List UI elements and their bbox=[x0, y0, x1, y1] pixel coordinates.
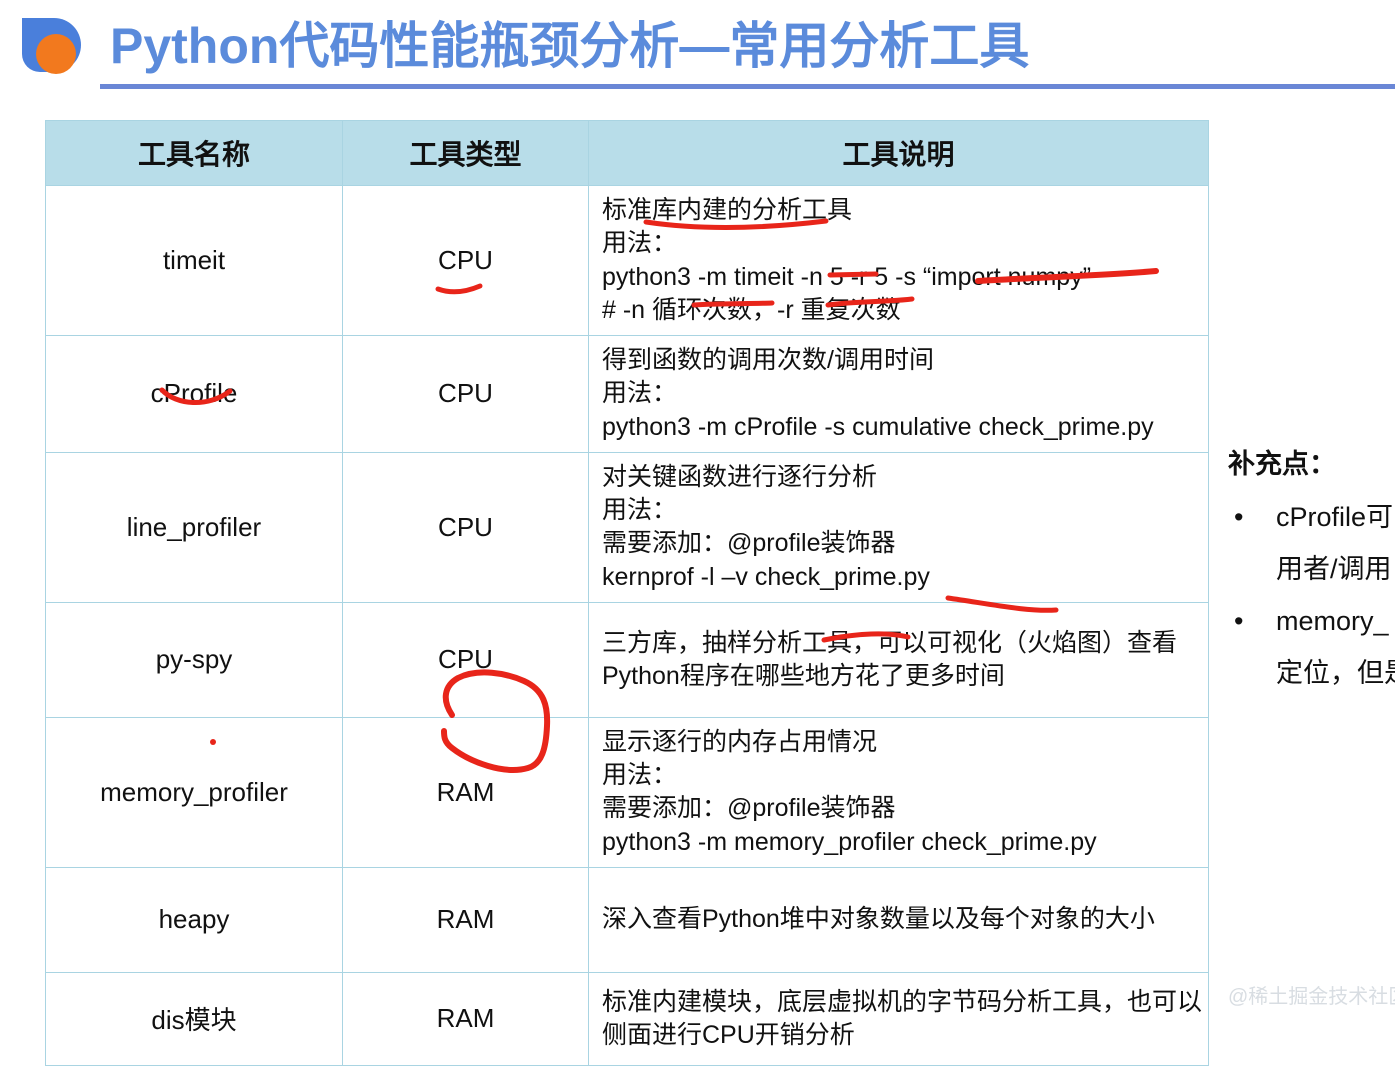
watermark: @稀土掘金技术社区 bbox=[1228, 980, 1395, 1009]
cell-tool-name: cProfile bbox=[46, 336, 343, 453]
page-title: Python代码性能瓶颈分析—常用分析工具 bbox=[110, 6, 1029, 78]
cell-tool-name: timeit bbox=[46, 186, 343, 336]
blue-orange-droplet-logo bbox=[18, 14, 84, 80]
tools-table: 工具名称 工具类型 工具说明 timeit CPU 标准库内建的分析工具 用法：… bbox=[45, 120, 1209, 1066]
supplementary-notes-title: 补充点： bbox=[1228, 442, 1395, 481]
note-line-1: cProfile可 bbox=[1276, 502, 1393, 532]
table-row: dis模块 RAM 标准内建模块，底层虚拟机的字节码分析工具，也可以 侧面进行C… bbox=[46, 972, 1209, 1065]
cell-tool-type: CPU bbox=[343, 336, 589, 453]
cell-tool-type: CPU bbox=[343, 602, 589, 717]
bullet-icon: • bbox=[1234, 599, 1243, 645]
table-row: line_profiler CPU 对关键函数进行逐行分析 用法： 需要添加：@… bbox=[46, 452, 1209, 602]
column-header-tool-desc: 工具说明 bbox=[589, 121, 1209, 186]
cell-tool-type: RAM bbox=[343, 867, 589, 972]
column-header-tool-name: 工具名称 bbox=[46, 121, 343, 186]
list-item: • cProfile可 bbox=[1228, 495, 1395, 541]
table-row: cProfile CPU 得到函数的调用次数/调用时间 用法： python3 … bbox=[46, 336, 1209, 453]
note-line-2: 定位，但是 bbox=[1276, 658, 1395, 688]
cell-tool-type: CPU bbox=[343, 452, 589, 602]
cell-tool-desc: 标准内建模块，底层虚拟机的字节码分析工具，也可以 侧面进行CPU开销分析 bbox=[589, 972, 1209, 1065]
cell-tool-type: RAM bbox=[343, 717, 589, 867]
title-underline-rule bbox=[100, 84, 1395, 89]
cell-tool-desc: 对关键函数进行逐行分析 用法： 需要添加：@profile装饰器 kernpro… bbox=[589, 452, 1209, 602]
cell-tool-name: dis模块 bbox=[46, 972, 343, 1065]
bullet-icon: • bbox=[1234, 495, 1243, 541]
cell-tool-desc: 深入查看Python堆中对象数量以及每个对象的大小 bbox=[589, 867, 1209, 972]
cell-tool-name: memory_profiler bbox=[46, 717, 343, 867]
cell-tool-desc: 得到函数的调用次数/调用时间 用法： python3 -m cProfile -… bbox=[589, 336, 1209, 453]
table-row: py-spy CPU 三方库，抽样分析工具，可以可视化（火焰图）查看 Pytho… bbox=[46, 602, 1209, 717]
list-item-continuation: 用者/调用 bbox=[1228, 547, 1395, 593]
table-row: timeit CPU 标准库内建的分析工具 用法： python3 -m tim… bbox=[46, 186, 1209, 336]
supplementary-notes-panel: 补充点： • cProfile可 用者/调用 • memory_ 定位，但是 bbox=[1228, 442, 1395, 703]
list-item: • memory_ bbox=[1228, 599, 1395, 645]
table-row: memory_profiler RAM 显示逐行的内存占用情况 用法： 需要添加… bbox=[46, 717, 1209, 867]
cell-tool-name: line_profiler bbox=[46, 452, 343, 602]
list-item-continuation: 定位，但是 bbox=[1228, 651, 1395, 697]
slide-header: Python代码性能瓶颈分析—常用分析工具 bbox=[0, 0, 1395, 100]
cell-tool-name: heapy bbox=[46, 867, 343, 972]
cell-tool-type: RAM bbox=[343, 972, 589, 1065]
cell-tool-desc: 三方库，抽样分析工具，可以可视化（火焰图）查看 Python程序在哪些地方花了更… bbox=[589, 602, 1209, 717]
cell-tool-name: py-spy bbox=[46, 602, 343, 717]
note-line-1: memory_ bbox=[1276, 606, 1389, 636]
table-row: heapy RAM 深入查看Python堆中对象数量以及每个对象的大小 bbox=[46, 867, 1209, 972]
note-line-2: 用者/调用 bbox=[1276, 554, 1392, 584]
table-header-row: 工具名称 工具类型 工具说明 bbox=[46, 121, 1209, 186]
column-header-tool-type: 工具类型 bbox=[343, 121, 589, 186]
cell-tool-desc: 显示逐行的内存占用情况 用法： 需要添加：@profile装饰器 python3… bbox=[589, 717, 1209, 867]
cell-tool-type: CPU bbox=[343, 186, 589, 336]
cell-tool-desc: 标准库内建的分析工具 用法： python3 -m timeit -n 5 -r… bbox=[589, 186, 1209, 336]
